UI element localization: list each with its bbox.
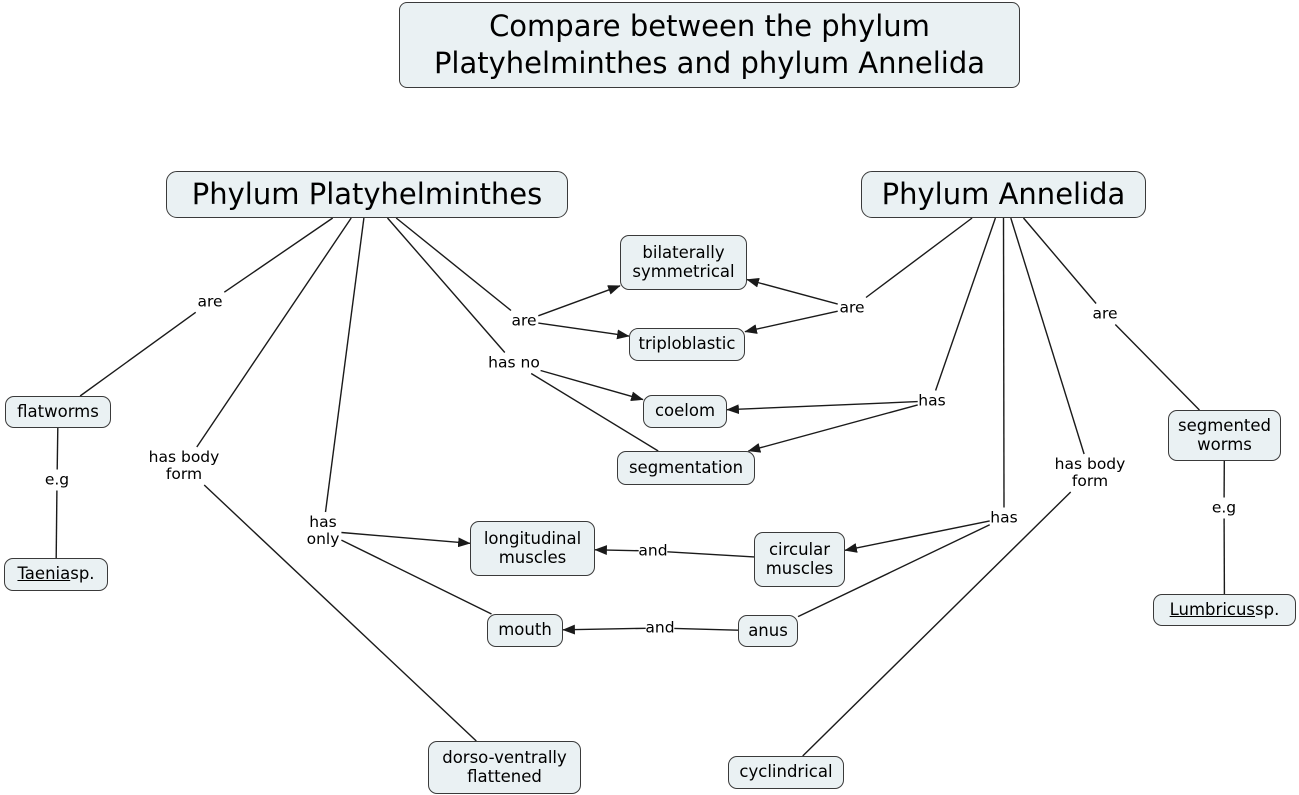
edge-label-ann-has1: has	[918, 392, 945, 409]
node-segworms[interactable]: segmented worms	[1168, 410, 1281, 461]
edge-annelida-to-ann-has2	[1004, 218, 1005, 508]
edge-platy-hasno-to-coelom	[541, 371, 643, 400]
edge-annelida-to-ann-bodyform	[1011, 218, 1084, 454]
edge-ann-has1-to-segmentation	[748, 405, 917, 451]
species-suffix: sp.	[1255, 601, 1279, 619]
edge-label-platy-hasno: has no	[488, 354, 540, 371]
edge-platy-are2-to-triploblastic	[538, 323, 629, 336]
node-cylindrical[interactable]: cyclindrical	[728, 756, 844, 789]
edge-platy-to-platy-bodyform	[197, 218, 351, 447]
edge-ann-bodyform-to-cylindrical	[803, 492, 1071, 756]
edge-ann-are1-to-bilateral	[747, 280, 838, 305]
edge-platy-hasonly-to-mouth	[341, 540, 491, 614]
genus-name: Lumbricus	[1170, 601, 1255, 619]
node-segmentation[interactable]: segmentation	[617, 451, 755, 485]
edge-platy-to-platy-hasonly	[326, 218, 364, 512]
edge-annelida-to-ann-are1	[866, 218, 972, 298]
edge-flatworms-to-flat-eg	[57, 428, 58, 470]
node-dorso[interactable]: dorso-ventrally flattened	[428, 741, 581, 794]
edges-group	[56, 218, 1224, 756]
edge-label-and-mouth: and	[645, 619, 674, 636]
edge-platy-bodyform-to-dorso	[204, 485, 476, 741]
node-annelida[interactable]: Phylum Annelida	[861, 171, 1146, 218]
edge-flat-eg-to-taenia	[56, 491, 57, 559]
edge-label-platy-hasonly: has only	[307, 514, 340, 548]
node-coelom[interactable]: coelom	[643, 395, 727, 428]
edge-platy-to-platy-are2	[396, 218, 511, 311]
edge-platy-are2-to-bilateral	[538, 286, 620, 316]
edge-and-muscles-to-longmuscles	[595, 550, 639, 551]
edge-label-seg-eg: e.g	[1212, 499, 1236, 516]
node-flatworms[interactable]: flatworms	[5, 396, 111, 428]
edge-label-ann-are1: are	[839, 299, 864, 316]
edge-label-ann-are2: are	[1092, 305, 1117, 322]
node-title[interactable]: Compare between the phylum Platyhelminth…	[399, 2, 1020, 88]
edge-annelida-to-ann-has1	[936, 218, 996, 391]
edge-label-platy-flatworms: are	[197, 293, 222, 310]
edge-label-platy-bodyform: has body form	[149, 449, 220, 483]
node-anus[interactable]: anus	[738, 615, 798, 647]
edge-ann-are2-to-segworms	[1115, 325, 1199, 411]
genus-name: Taenia	[17, 565, 70, 583]
node-triploblastic[interactable]: triploblastic	[629, 328, 745, 361]
edge-label-ann-bodyform: has body form	[1055, 456, 1126, 490]
species-suffix: sp.	[70, 565, 94, 583]
edge-circmuscles-to-and-muscles	[667, 552, 754, 557]
edge-anus-to-and-mouth	[674, 628, 738, 630]
edge-ann-has2-to-circmuscles	[845, 521, 990, 550]
edge-annelida-to-ann-are2	[1024, 218, 1097, 304]
node-platy[interactable]: Phylum Platyhelminthes	[166, 171, 568, 218]
node-taenia[interactable]: Taenia sp.	[4, 558, 108, 591]
edge-ann-are1-to-triploblastic	[745, 311, 838, 332]
node-longmuscles[interactable]: longitudinal muscles	[470, 521, 595, 576]
node-circmuscles[interactable]: circular muscles	[754, 532, 845, 587]
edge-label-and-muscles: and	[638, 542, 667, 559]
node-bilateral[interactable]: bilaterally symmetrical	[620, 235, 747, 290]
edge-label-flat-eg: e.g	[45, 471, 69, 488]
edge-and-mouth-to-mouth	[563, 628, 646, 630]
node-mouth[interactable]: mouth	[487, 614, 563, 647]
edge-platy-hasno-to-segmentation	[531, 374, 658, 452]
edge-label-ann-has2: has	[990, 509, 1017, 526]
edge-label-platy-are2: are	[511, 312, 536, 329]
edge-platy-to-platy-flatworms	[224, 218, 332, 292]
edge-platy-flatworms-to-flatworms	[80, 312, 196, 396]
edge-platy-hasonly-to-longmuscles	[341, 533, 470, 544]
concept-map-canvas: Compare between the phylum Platyhelminth…	[0, 0, 1299, 795]
edge-ann-has1-to-coelom	[727, 402, 918, 410]
edge-platy-to-platy-hasno	[388, 218, 505, 353]
node-lumbricus[interactable]: Lumbricus sp.	[1153, 594, 1296, 626]
